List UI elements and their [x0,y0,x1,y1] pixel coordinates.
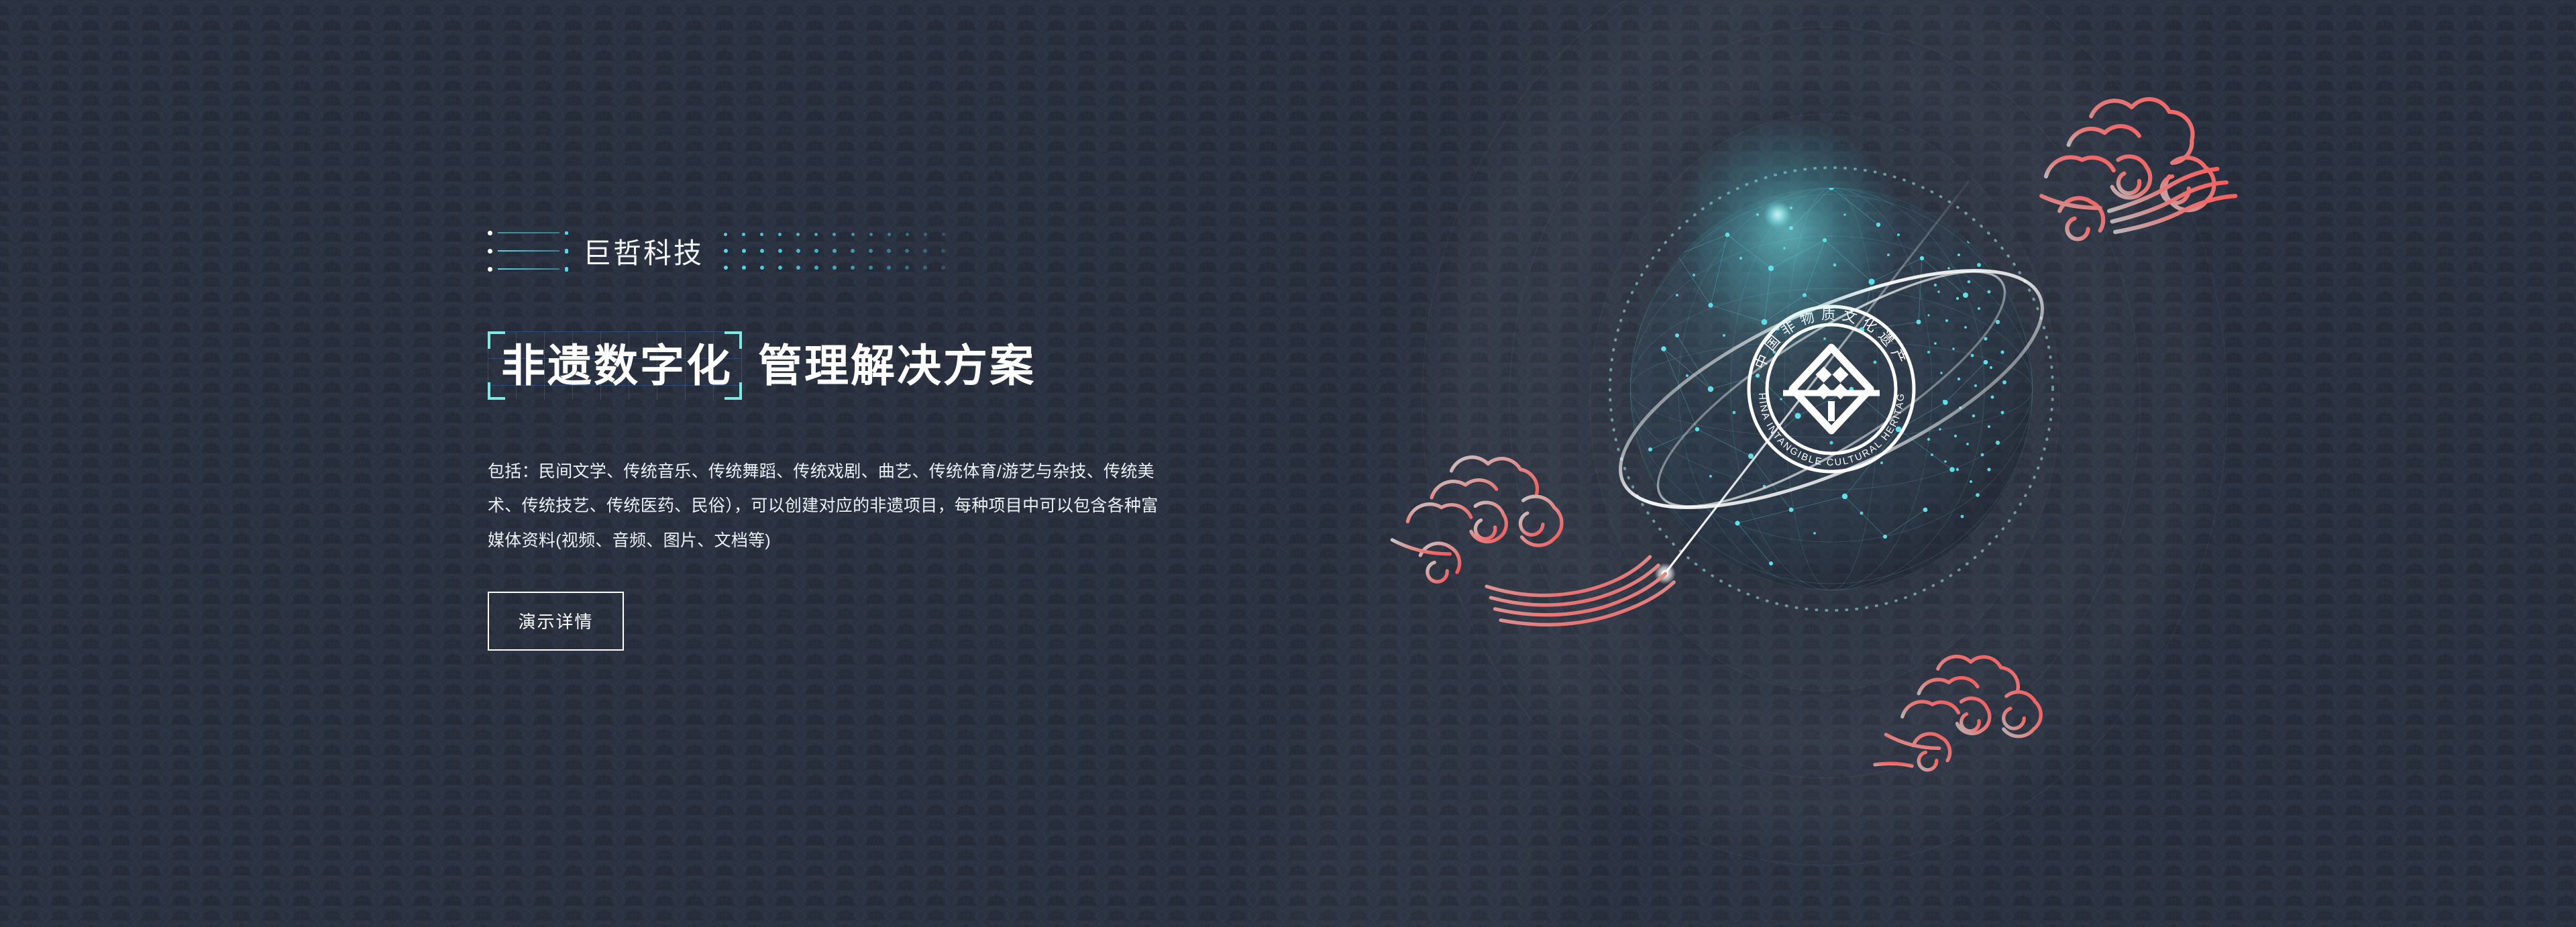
dot-grid-row [724,265,945,270]
three-line-tick-decoration [488,230,568,272]
tick-bar [498,250,559,252]
dot-grid-row [724,231,945,237]
tick-dot-left [488,267,492,272]
brand-name: 巨哲科技 [583,231,704,272]
demo-details-button[interactable]: 演示详情 [488,592,624,651]
brand-row: 巨哲科技 [488,228,1239,274]
dot-grid-decoration [724,231,945,270]
page-title: 非遗数字化 管理解决方案 [488,315,1239,416]
tick-dot-right [565,231,568,235]
hero-content: 巨哲科技 [488,228,1239,651]
tick-dot-right [565,267,568,272]
tick-bar [498,268,559,270]
dot-grid-row [724,248,945,254]
tick-line-1 [488,230,568,235]
description-text: 包括：民间文学、传统音乐、传统舞蹈、传统戏剧、曲艺、传统体育/游艺与杂技、传统美… [488,455,1172,558]
tick-bar [498,232,559,233]
tick-dot-right [565,249,568,254]
tick-dot-left [488,249,492,254]
headline-rest-text: 管理解决方案 [758,343,1036,388]
hero-banner: 中国非物质文化遗产 CHINA INTANGIBLE CULTURAL HERI… [0,0,2576,927]
headline-highlight-text: 非遗数字化 [501,343,733,388]
seigaiha-pattern-background-offset [0,0,2576,927]
tick-dot-left [488,231,492,235]
tick-line-2 [488,248,568,254]
headline-highlight-box: 非遗数字化 [488,331,742,400]
tick-line-3 [488,266,568,272]
